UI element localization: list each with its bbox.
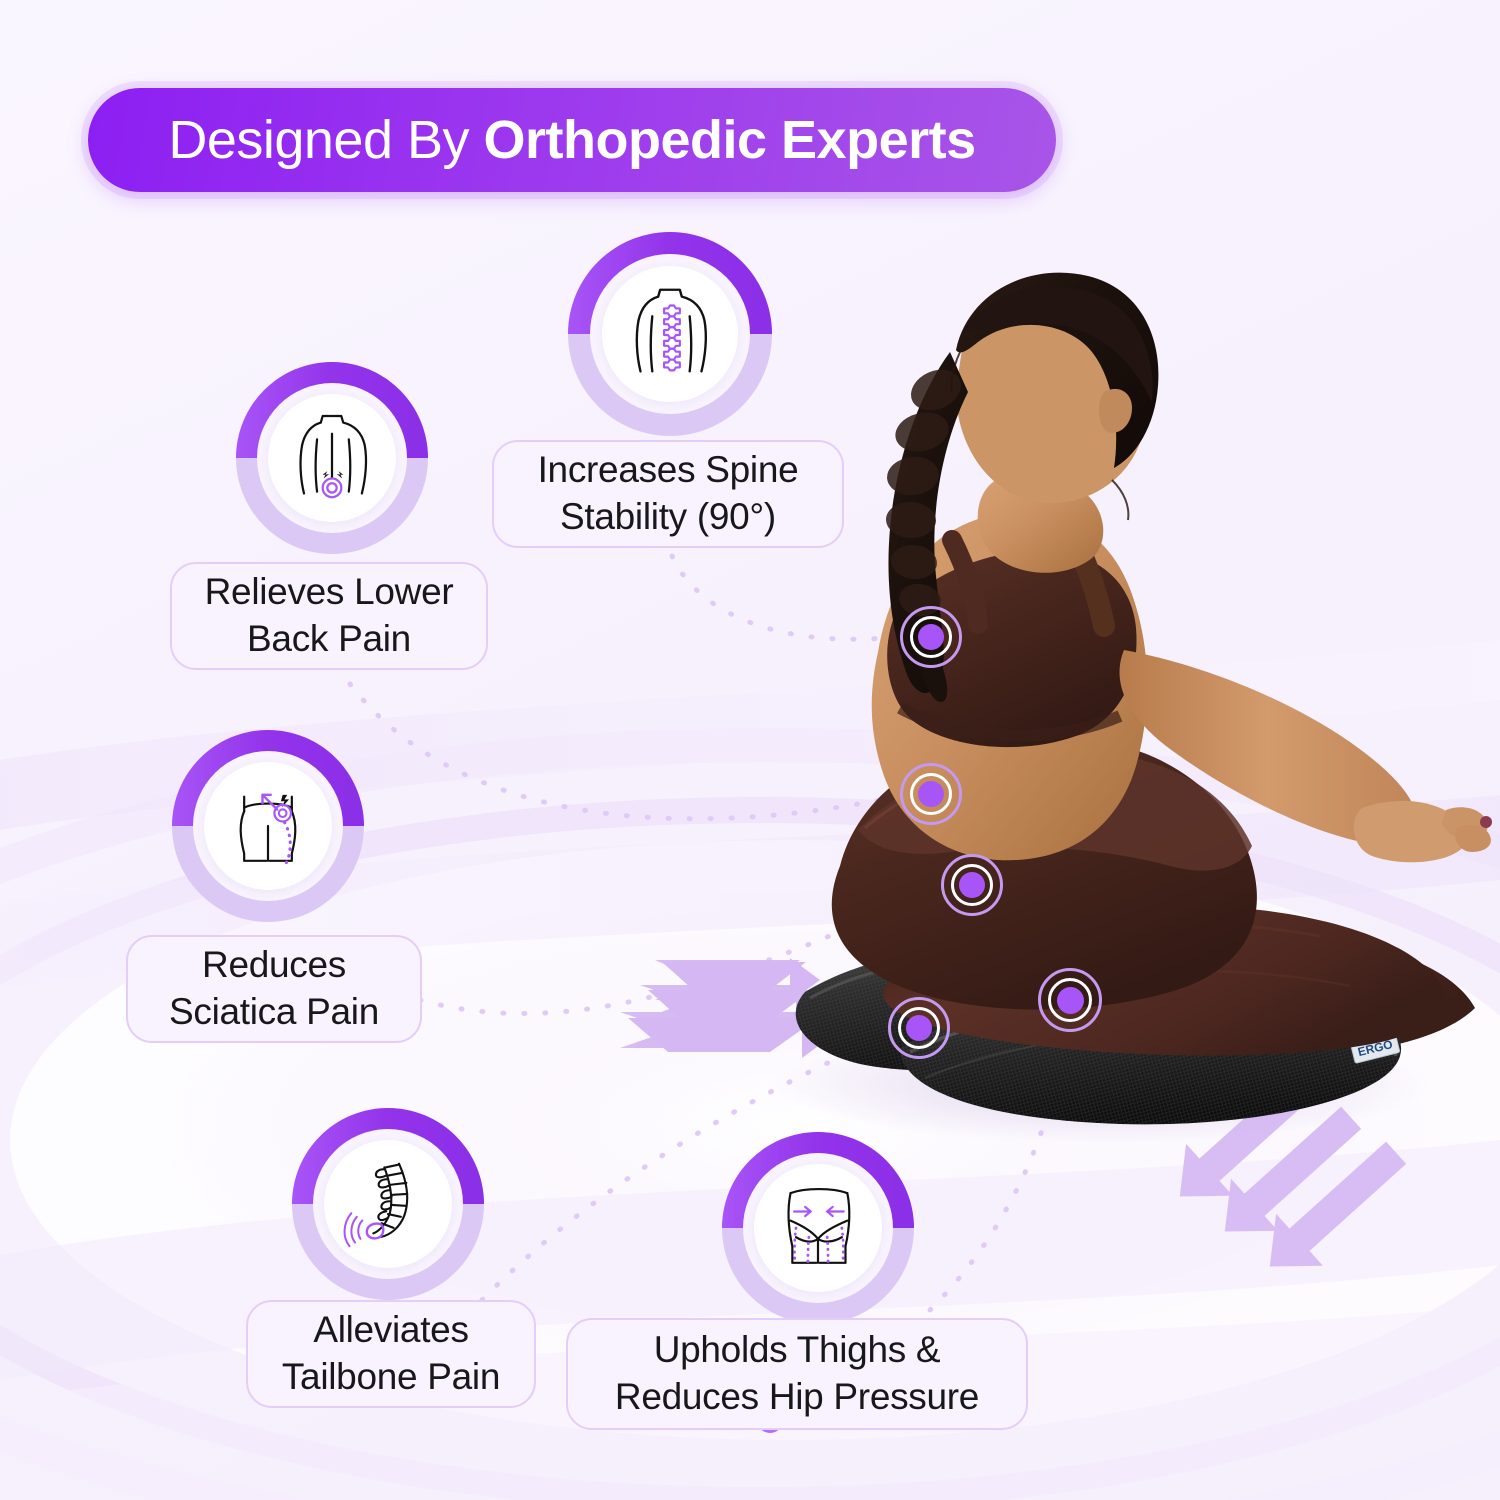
hand-mudra <box>1354 801 1492 862</box>
infographic-canvas: Designed By Orthopedic Experts <box>0 0 1500 1500</box>
feature-icon-tailbone-pain <box>292 1108 484 1300</box>
upper-back-marker[interactable] <box>900 606 962 668</box>
feature-label-text: Increases Spine Stability (90°) <box>538 447 799 540</box>
marker-core <box>1057 987 1084 1014</box>
banner-title-bold: Orthopedic Experts <box>484 110 976 170</box>
marker-core <box>918 624 944 650</box>
banner-title: Designed By Orthopedic Experts <box>168 113 975 167</box>
hip-marker[interactable] <box>941 854 1003 916</box>
marker-white-ring <box>910 773 952 815</box>
marker-white-ring <box>910 616 952 658</box>
thigh-marker[interactable] <box>1038 968 1102 1032</box>
back-torso-pain-point-icon <box>236 362 428 554</box>
feature-icon-thighs-hip-pressure <box>722 1132 914 1324</box>
lower-back-marker[interactable] <box>900 763 962 825</box>
feature-label-tailbone-pain: Alleviates Tailbone Pain <box>246 1300 536 1408</box>
marker-white-ring <box>951 864 993 906</box>
feature-icon-spine-stability <box>568 232 772 436</box>
marker-core <box>906 1015 932 1041</box>
product-photo: ERGO <box>700 180 1500 1180</box>
marker-core <box>918 781 944 807</box>
feature-label-thighs-hip-pressure: Upholds Thighs & Reduces Hip Pressure <box>566 1318 1028 1430</box>
back-torso-spine-icon <box>568 232 772 436</box>
banner-title-light: Designed By <box>168 110 483 170</box>
header-banner: Designed By Orthopedic Experts <box>88 88 1056 192</box>
feature-label-text: Relieves Lower Back Pain <box>205 569 454 662</box>
feature-label-text: Alleviates Tailbone Pain <box>282 1307 500 1400</box>
glutes-pressure-arrows-icon <box>722 1132 914 1324</box>
feature-label-text: Upholds Thighs & Reduces Hip Pressure <box>615 1327 979 1420</box>
marker-white-ring <box>898 1007 940 1049</box>
feature-label-lower-back-pain: Relieves Lower Back Pain <box>170 562 488 670</box>
feature-label-text: Reduces Sciatica Pain <box>169 942 379 1035</box>
feature-icon-sciatica-pain <box>172 730 364 922</box>
hips-sciatic-nerve-icon <box>172 730 364 922</box>
feature-label-sciatica-pain: Reduces Sciatica Pain <box>126 935 422 1043</box>
marker-white-ring <box>1048 978 1092 1022</box>
tailbone-marker[interactable] <box>888 997 950 1059</box>
curved-spine-coccyx-icon <box>292 1108 484 1300</box>
feature-icon-lower-back-pain <box>236 362 428 554</box>
feature-label-spine-stability: Increases Spine Stability (90°) <box>492 440 844 548</box>
marker-core <box>959 872 985 898</box>
